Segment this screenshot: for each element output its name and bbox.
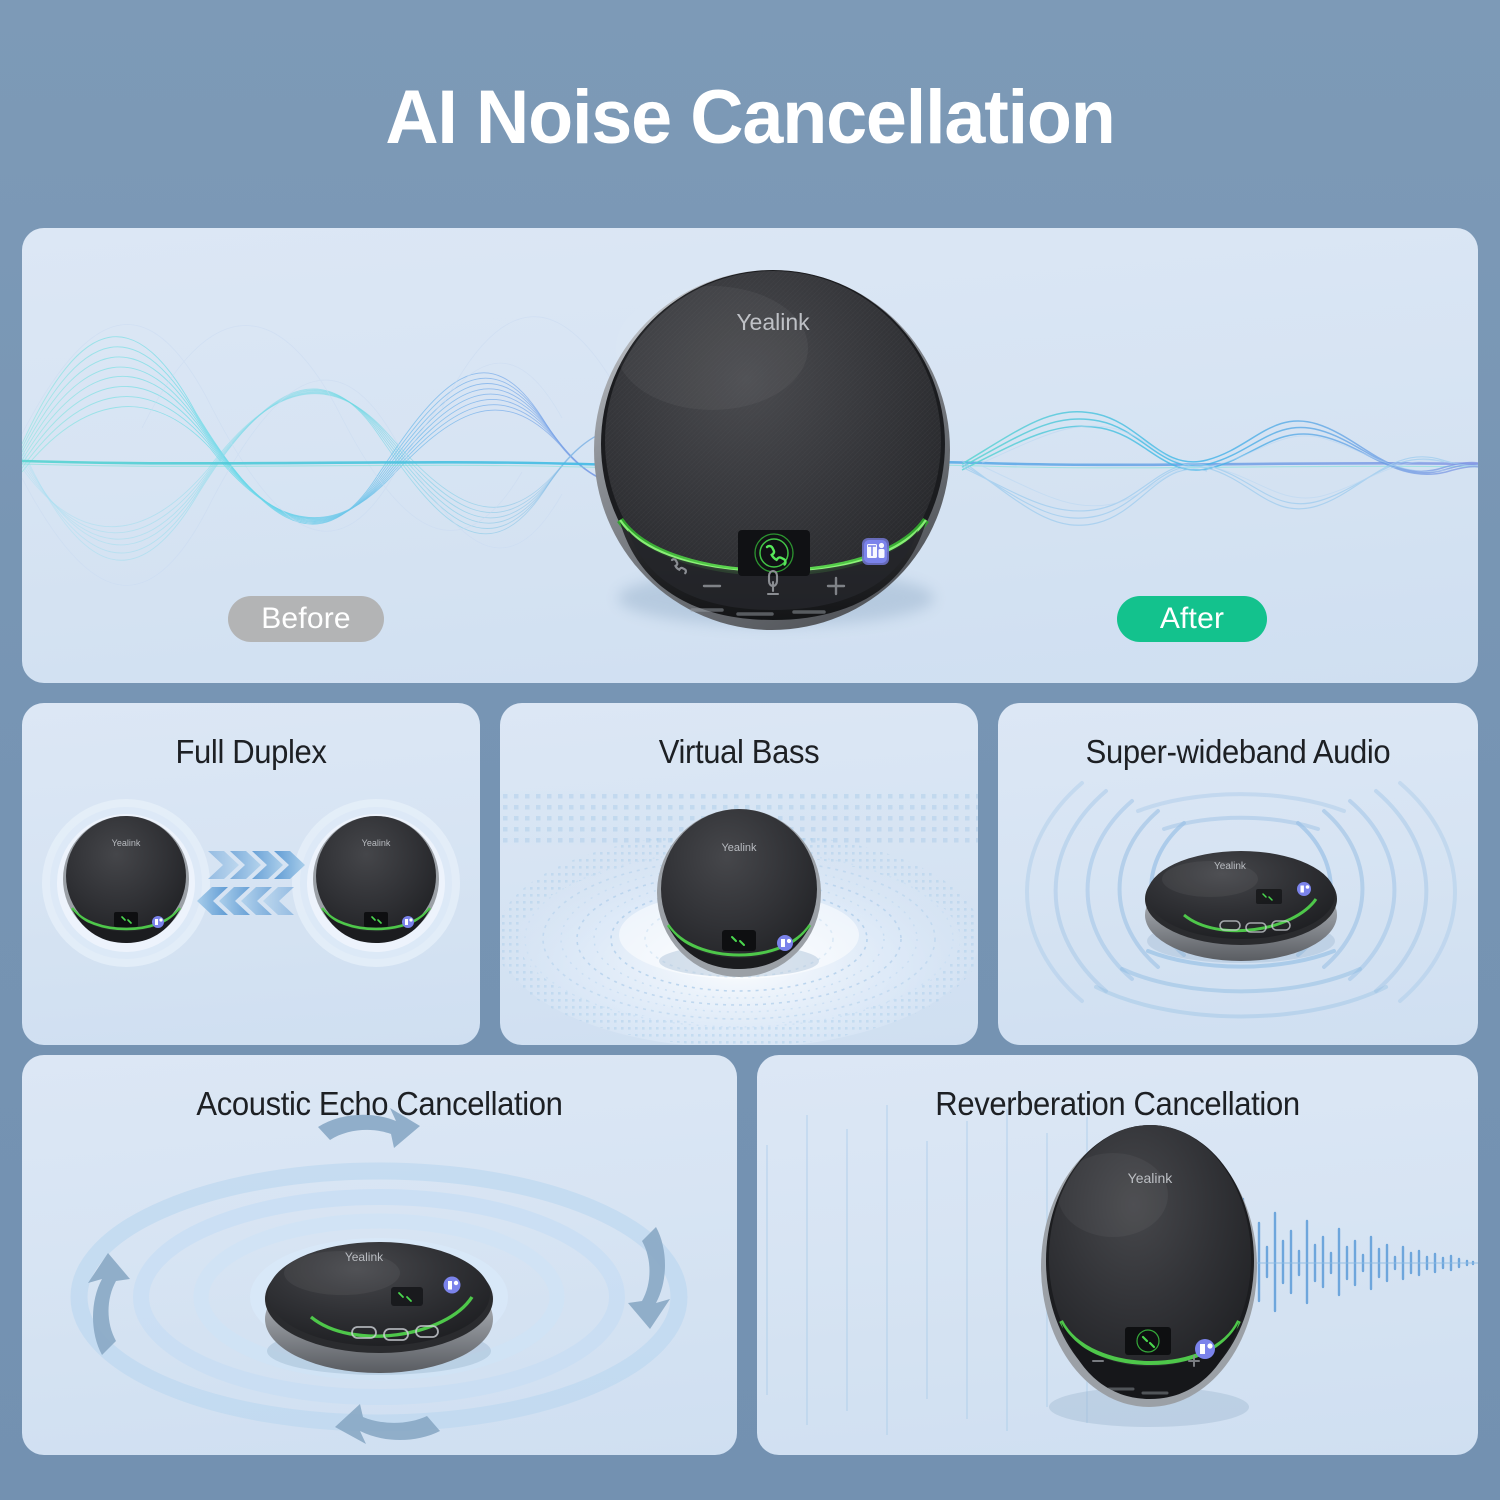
- feature-card-virtual-bass: Virtual Bass: [500, 703, 978, 1045]
- svg-text:Yealink: Yealink: [345, 1250, 384, 1264]
- arrow-left-icon: [197, 887, 294, 915]
- svg-text:Yealink: Yealink: [112, 838, 141, 848]
- feature-title-reverberation-cancellation: Reverberation Cancellation: [779, 1085, 1457, 1123]
- page-title: AI Noise Cancellation: [23, 78, 1478, 158]
- svg-text:Yealink: Yealink: [1214, 861, 1247, 872]
- before-badge: Before: [228, 596, 384, 642]
- feature-title-super-wideband-audio: Super-wideband Audio: [1012, 733, 1463, 771]
- feature-title-virtual-bass: Virtual Bass: [514, 733, 963, 771]
- feature-card-super-wideband-audio: Super-wideband Audio: [998, 703, 1478, 1045]
- teams-button-icon: [862, 538, 889, 565]
- feature-card-acoustic-echo-cancellation: Acoustic Echo Cancellation: [22, 1055, 737, 1455]
- feature-card-reverberation-cancellation: Reverberation Cancellation: [757, 1055, 1478, 1455]
- arrow-right-icon: [208, 851, 305, 879]
- svg-text:Yealink: Yealink: [721, 842, 757, 854]
- feature-title-full-duplex: Full Duplex: [36, 733, 467, 771]
- speakerphone-device-hero: Yealink: [562, 238, 982, 658]
- feature-card-full-duplex: Full Duplex Ye: [22, 703, 480, 1045]
- svg-text:Yealink: Yealink: [1128, 1170, 1174, 1186]
- after-badge: After: [1117, 596, 1267, 642]
- svg-text:Yealink: Yealink: [362, 838, 391, 848]
- feature-title-acoustic-echo-cancellation: Acoustic Echo Cancellation: [43, 1085, 715, 1123]
- infographic-canvas: AI Noise Cancellation: [0, 0, 1500, 1500]
- device-brand-label: Yealink: [736, 309, 810, 335]
